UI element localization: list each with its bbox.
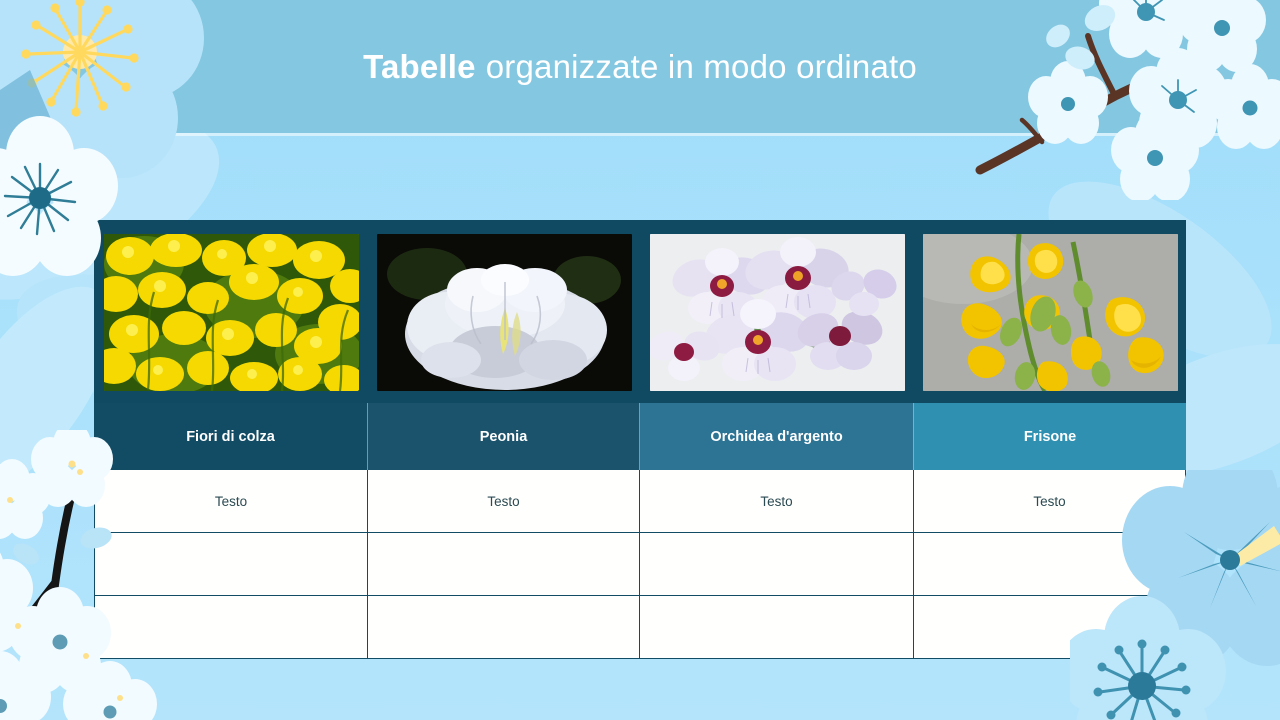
table-header-cell-2[interactable]: Peonia [368, 403, 640, 470]
table-header-cell-4[interactable]: Frisone [914, 403, 1186, 470]
table-image-cell-2 [368, 234, 640, 391]
table-header-cell-3[interactable]: Orchidea d'argento [640, 403, 914, 470]
table-cell[interactable]: Testo [640, 470, 914, 533]
table-cell[interactable] [914, 533, 1186, 596]
table-cell[interactable]: Testo [914, 470, 1186, 533]
table-image-cell-3 [640, 234, 914, 391]
table-header-cell-1[interactable]: Fiori di colza [94, 403, 368, 470]
table-cell[interactable] [94, 533, 368, 596]
table-cell[interactable]: Testo [94, 470, 368, 533]
table-cell[interactable] [640, 596, 914, 659]
table-cell[interactable] [94, 596, 368, 659]
table-image-cell-4 [914, 234, 1186, 391]
white-peony-photo [377, 234, 632, 391]
title-banner-underline [0, 133, 1280, 136]
orchid-photo [650, 234, 905, 391]
table-cell[interactable]: Testo [368, 470, 640, 533]
table-cell[interactable] [640, 533, 914, 596]
table-row: Testo Testo Testo Testo [94, 470, 1186, 533]
rapeseed-flowers-photo [104, 234, 359, 391]
table-image-row [94, 220, 1186, 403]
table-cell[interactable] [368, 596, 640, 659]
table-row [94, 596, 1186, 659]
page-title: Tabelle organizzate in modo ordinato [0, 0, 1280, 133]
table-cell[interactable] [368, 533, 640, 596]
table-row [94, 533, 1186, 596]
slide-canvas: Tabelle organizzate in modo ordinato [0, 0, 1280, 720]
freesia-photo [923, 234, 1178, 391]
table-image-cell-1 [94, 234, 368, 391]
page-title-rest: organizzate in modo ordinato [486, 48, 917, 86]
table-cell[interactable] [914, 596, 1186, 659]
table-header-row: Fiori di colza Peonia Orchidea d'argento… [94, 403, 1186, 470]
page-title-bold: Tabelle [363, 48, 476, 86]
flower-table: Fiori di colza Peonia Orchidea d'argento… [94, 220, 1186, 659]
